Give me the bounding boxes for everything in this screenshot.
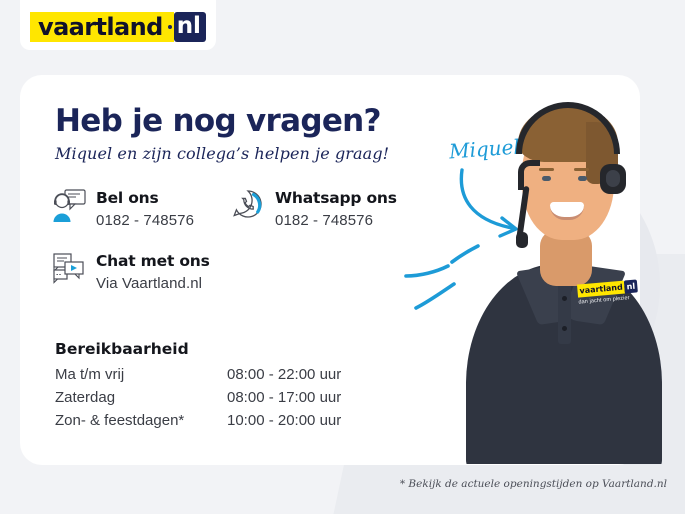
brand-logo: vaartland nl (30, 12, 206, 42)
headset-mic-boom-upper (518, 160, 540, 190)
headset-band-icon (516, 102, 620, 154)
contact-whatsapp-value[interactable]: 0182 - 748576 (275, 212, 397, 229)
availability-title: Bereikbaarheid (55, 340, 189, 358)
shirt-button (562, 296, 567, 301)
availability-time: 08:00 - 22:00 uur (227, 366, 341, 383)
table-row: Ma t/m vrij 08:00 - 22:00 uur (55, 366, 341, 383)
page-subtitle: Miquel en zijn collega’s helpen je graag… (55, 144, 389, 163)
shirt-placket (558, 278, 571, 344)
brand-logo-word: vaartland (30, 12, 168, 42)
eyebrow-left (539, 168, 554, 171)
whatsapp-phone-bubble-icon (231, 188, 265, 226)
contact-whatsapp-text: Whatsapp ons 0182 - 748576 (275, 188, 397, 229)
shirt-logo-patch: vaartland nl dan jacht om plezier (577, 279, 639, 310)
headset-microphone-icon (516, 232, 528, 248)
contact-call-value[interactable]: 0182 - 748576 (96, 212, 194, 229)
promo-banner: vaartland nl Heb je nog vragen? Miquel e… (0, 0, 685, 514)
table-row: Zaterdag 08:00 - 17:00 uur (55, 389, 341, 406)
contact-call-title: Bel ons (96, 189, 159, 207)
headset-person-speech-bubble-icon (52, 188, 86, 226)
table-row: Zon- & feestdagen* 10:00 - 20:00 uur (55, 412, 341, 429)
contact-item-call[interactable]: Bel ons 0182 - 748576 (52, 188, 194, 229)
contact-call-text: Bel ons 0182 - 748576 (96, 188, 194, 229)
availability-time: 10:00 - 20:00 uur (227, 412, 341, 429)
availability-table: Ma t/m vrij 08:00 - 22:00 uur Zaterdag 0… (55, 366, 341, 435)
contact-chat-value[interactable]: Via Vaartland.nl (96, 275, 210, 292)
headset-earcup-inner (606, 170, 620, 187)
contact-chat-text: Chat met ons Via Vaartland.nl (96, 251, 210, 292)
agent-photo: vaartland nl dan jacht om plezier (458, 82, 668, 464)
contact-item-chat[interactable]: Chat met ons Via Vaartland.nl (52, 251, 210, 292)
eye-right (578, 176, 587, 181)
brand-logo-card[interactable]: vaartland nl (20, 0, 216, 50)
availability-day: Zaterdag (55, 389, 227, 406)
eyebrow-right (574, 168, 589, 171)
chat-windows-icon (52, 251, 86, 289)
brand-logo-tld: nl (174, 12, 206, 42)
patch-logo-tld: nl (624, 279, 638, 293)
contact-chat-title: Chat met ons (96, 252, 210, 270)
eye-left (542, 176, 551, 181)
availability-day: Ma t/m vrij (55, 366, 227, 383)
footnote: * Bekijk de actuele openingstijden op Va… (400, 478, 667, 490)
page-title: Heb je nog vragen? (55, 103, 381, 139)
availability-day: Zon- & feestdagen* (55, 412, 227, 429)
contact-whatsapp-title: Whatsapp ons (275, 189, 397, 207)
availability-time: 08:00 - 17:00 uur (227, 389, 341, 406)
contact-item-whatsapp[interactable]: Whatsapp ons 0182 - 748576 (231, 188, 397, 229)
shirt-button (562, 326, 567, 331)
brand-logo-dot (168, 12, 174, 42)
